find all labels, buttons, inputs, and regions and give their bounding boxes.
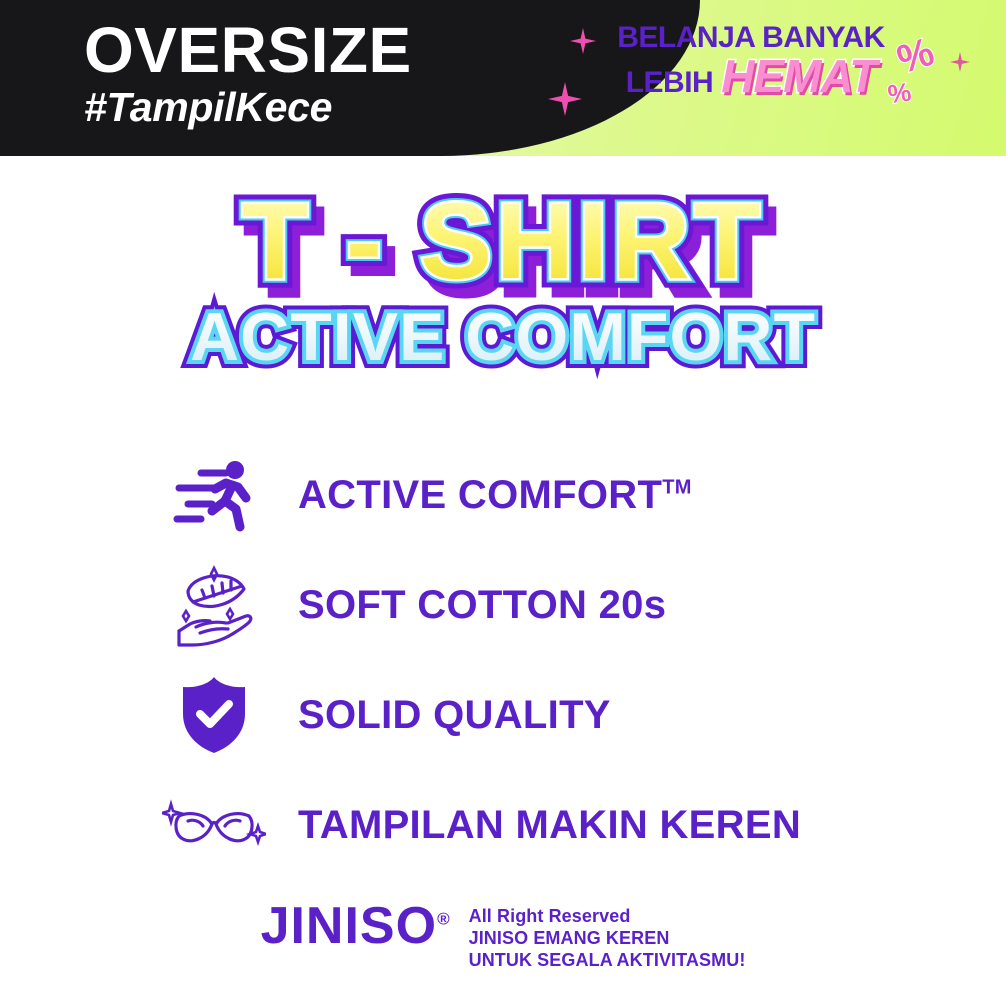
- promo-hemat-text: HEMAT: [721, 55, 876, 99]
- tagline-line-3: UNTUK SEGALA AKTIVITASMU!: [469, 950, 746, 972]
- feature-list: ACTIVE COMFORTTM: [0, 440, 1006, 880]
- promo-banner-canvas: OVERSIZE #TampilKece BELANJA BANYAK LEBI…: [0, 0, 1006, 1006]
- feature-text: ACTIVE COMFORT: [298, 473, 662, 517]
- sunglasses-icon: [160, 779, 268, 871]
- subtitle-wrap: ACTIVE COMFORT ACTIVE COMFORT ACTIVE COM…: [190, 302, 816, 373]
- footer-tagline: All Right Reserved JINISO EMANG KEREN UN…: [469, 900, 746, 972]
- brand-name: JINISO: [261, 897, 438, 955]
- feature-item-soft-cotton: SOFT COTTON 20s: [0, 550, 1006, 660]
- tagline-line-1: All Right Reserved: [469, 906, 746, 928]
- oversize-headline: OVERSIZE: [84, 18, 564, 83]
- promo-line-lebih-hemat: LEBIH HEMAT: [586, 55, 916, 100]
- promo-lebih-text: LEBIH: [626, 66, 714, 100]
- trademark-symbol: TM: [662, 476, 691, 498]
- feature-label-active-comfort: ACTIVE COMFORTTM: [298, 473, 692, 518]
- running-person-icon: [160, 449, 268, 541]
- footer-branding: JINISO® All Right Reserved JINISO EMANG …: [0, 900, 1006, 972]
- promo-line-belanja-banyak: BELANJA BANYAK: [586, 22, 916, 54]
- feature-label-soft-cotton: SOFT COTTON 20s: [298, 583, 666, 628]
- feature-label-tampilan-makin-keren: TAMPILAN MAKIN KEREN: [298, 803, 801, 848]
- tshirt-title: T - SHIRT: [242, 186, 764, 296]
- feature-item-active-comfort: ACTIVE COMFORTTM: [0, 440, 1006, 550]
- registered-symbol: ®: [437, 910, 451, 929]
- percent-symbol-small: %: [886, 77, 913, 111]
- feature-item-tampilan-makin-keren: TAMPILAN MAKIN KEREN: [0, 770, 1006, 880]
- feature-item-solid-quality: SOLID QUALITY: [0, 660, 1006, 770]
- subtitle-active-comfort: ACTIVE COMFORT: [190, 302, 816, 373]
- oversize-headline-group: OVERSIZE #TampilKece: [84, 18, 564, 130]
- header-banner: OVERSIZE #TampilKece BELANJA BANYAK LEBI…: [0, 0, 1006, 156]
- jiniso-logo: JINISO®: [261, 900, 451, 952]
- feature-label-solid-quality: SOLID QUALITY: [298, 693, 611, 738]
- product-title-block: T - SHIRT T - SHIRT T - SHIRT T - SHIRT …: [0, 186, 1006, 374]
- promo-text-group: BELANJA BANYAK LEBIH HEMAT: [586, 22, 916, 100]
- tagline-line-2: JINISO EMANG KEREN: [469, 928, 746, 950]
- tampilkece-hashtag: #TampilKece: [84, 85, 564, 130]
- hand-feather-icon: [160, 559, 268, 651]
- tshirt-title-wrap: T - SHIRT T - SHIRT T - SHIRT T - SHIRT …: [242, 186, 764, 296]
- shield-check-icon: [160, 669, 268, 761]
